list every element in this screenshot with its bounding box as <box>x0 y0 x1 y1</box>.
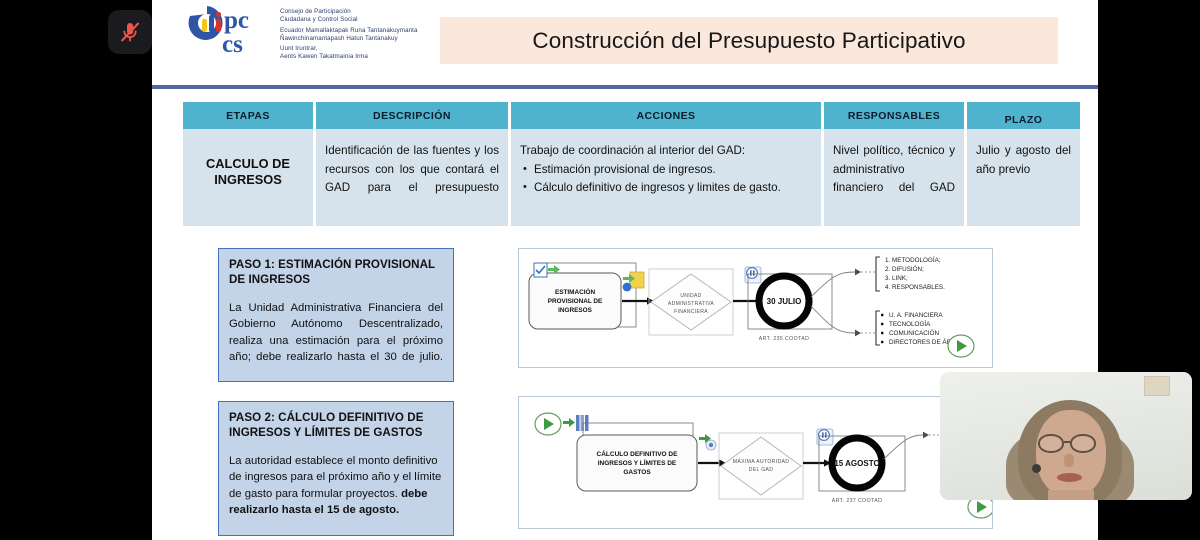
acciones-intro: Trabajo de coordinación al interior del … <box>520 142 812 161</box>
acciones-item: Estimación provisional de ingresos. <box>534 161 812 180</box>
slide-title-banner: Construcción del Presupuesto Participati… <box>440 17 1058 64</box>
diagram2-process-line1: CÁLCULO DEFINITIVO DE <box>597 449 679 458</box>
logo-line-4: Ñawinchinamantapash Hatun Tantanakuy <box>280 35 418 43</box>
diagram-estimacion-provisional: ESTIMACIÓN PROVISIONAL DE INGRESOS <box>518 248 993 368</box>
microphone-muted-icon <box>117 19 143 45</box>
diagram1-list-bulleted-item: COMUNICACIÓN <box>889 328 939 337</box>
svg-text:pc: pc <box>224 7 249 34</box>
diagram2-decision-line1: MÁXIMA AUTORIDAD <box>733 458 790 465</box>
participant-glasses-left <box>1038 434 1064 453</box>
step-2-body: La autoridad establece el monto definiti… <box>229 453 443 519</box>
diagram1-legal-note: ART. 235 COOTAD <box>759 336 810 342</box>
diagram1-list-bulleted-item: U. A. FINANCIERA <box>889 312 943 319</box>
participant-video-tile[interactable] <box>940 372 1192 500</box>
logo-line-2: Ciudadana y Control Social <box>280 16 418 24</box>
diagram1-list-numbered-item: 2. DIFUSIÓN; <box>885 264 924 273</box>
cell-descripcion: Identificación de las fuentes y los recu… <box>316 129 508 226</box>
logo-line-6: Aents Kawen Takatmainia Irma <box>280 53 418 61</box>
funds-icon <box>623 272 644 291</box>
participant-earring <box>1032 464 1041 473</box>
play-button-icon[interactable] <box>535 413 561 435</box>
step-box-paso-1: PASO 1: ESTIMACIÓN PROVISIONAL DE INGRES… <box>218 248 454 382</box>
meeting-screen: pc cs Consejo de Participación Ciudadana… <box>0 0 1200 540</box>
acciones-item: Cálculo definitivo de ingresos y limites… <box>534 179 812 198</box>
pause-icon <box>745 267 761 283</box>
column-header-acciones: ACCIONES <box>511 102 821 129</box>
participant-nose <box>1064 454 1074 467</box>
etapas-table: ETAPAS DESCRIPCIÓN ACCIONES RESPONSABLES… <box>180 102 1083 226</box>
diagram2-process-line2: INGRESOS Y LÍMITES DE <box>598 458 677 467</box>
step-1-title: PASO 1: ESTIMACIÓN PROVISIONAL DE INGRES… <box>229 258 443 287</box>
cpccs-logo-text: Consejo de Participación Ciudadana y Con… <box>280 2 418 62</box>
microphone-muted-indicator[interactable] <box>108 10 152 54</box>
acciones-list: Estimación provisional de ingresos. Cálc… <box>520 161 812 198</box>
diagram1-decision-line3: FINANCIERA <box>674 309 708 315</box>
logo-line-1: Consejo de Participación <box>280 8 418 16</box>
diagram1-process-line1: ESTIMACIÓN <box>555 287 596 296</box>
logo-line-3: Ecuador Mamallaktapak Runa Tantanakuyman… <box>280 27 418 35</box>
logo-line-5: Uunt Iruntrar, <box>280 45 418 53</box>
diagram2-process-line3: GASTOS <box>623 469 651 476</box>
cell-acciones: Trabajo de coordinación al interior del … <box>511 129 821 226</box>
step-2-title: PASO 2: CÁLCULO DEFINITIVO DE INGRESOS Y… <box>229 411 443 440</box>
table-row: CALCULO DE INGRESOS Identificación de la… <box>183 129 1080 226</box>
svg-text:cs: cs <box>222 31 243 58</box>
participant-glasses-bridge <box>1064 441 1072 443</box>
cell-etapa: CALCULO DE INGRESOS <box>183 129 313 226</box>
cell-plazo: Julio y agosto del año previo <box>967 129 1080 226</box>
column-header-descripcion: DESCRIPCIÓN <box>316 102 508 129</box>
wall-sign <box>1144 376 1170 396</box>
slide-header: pc cs Consejo de Participación Ciudadana… <box>152 0 1098 88</box>
play-button-icon[interactable] <box>948 335 974 357</box>
column-header-plazo: PLAZO <box>967 102 1080 129</box>
diagram1-decision-line1: UNIDAD <box>680 293 701 299</box>
participant-neck <box>1048 490 1094 500</box>
diagram-calculo-definitivo: CÁLCULO DEFINITIVO DE INGRESOS Y LÍMITES… <box>518 396 993 529</box>
cell-responsables: Nivel político, técnico y administrativo… <box>824 129 964 226</box>
diagram1-list-numbered-item: 1. METODOLOGÍA; <box>885 255 941 264</box>
diagram1-process-line2: PROVISIONAL DE <box>548 298 603 305</box>
pause-icon <box>817 429 833 445</box>
diagram2-decision-line2: DEL GAD <box>749 467 774 473</box>
diagram1-process-line3: INGRESOS <box>558 307 592 314</box>
diagram1-decision-line2: ADMINISTRATIVA <box>668 301 714 307</box>
diagram2-legal-note: ART. 237 COOTAD <box>832 498 883 504</box>
diagram1-list-numbered-item: 3. LINK; <box>885 275 908 282</box>
cpccs-logo-mark: pc cs <box>182 2 274 64</box>
header-divider <box>152 85 1098 89</box>
column-header-etapas: ETAPAS <box>183 102 313 129</box>
authority-icon <box>699 434 716 450</box>
participant-mouth <box>1057 473 1082 482</box>
diagram1-list-numbered-item: 4. RESPONSABLES. <box>885 284 945 291</box>
cpccs-logo: pc cs Consejo de Participación Ciudadana… <box>182 2 418 64</box>
diagram1-milestone: 30 JULIO <box>767 297 802 306</box>
slide-title: Construcción del Presupuesto Participati… <box>532 28 965 54</box>
participant-glasses-right <box>1070 434 1096 453</box>
diagram2-milestone: 15 AGOSTO <box>834 459 879 468</box>
step-box-paso-2: PASO 2: CÁLCULO DEFINITIVO DE INGRESOS Y… <box>218 401 454 536</box>
table-header-row: ETAPAS DESCRIPCIÓN ACCIONES RESPONSABLES… <box>183 102 1080 129</box>
column-header-responsables: RESPONSABLES <box>824 102 964 129</box>
diagram1-list-bulleted-item: TECNOLOGÍA <box>889 319 931 328</box>
step-1-body: La Unidad Administrativa Financiera del … <box>229 300 443 366</box>
